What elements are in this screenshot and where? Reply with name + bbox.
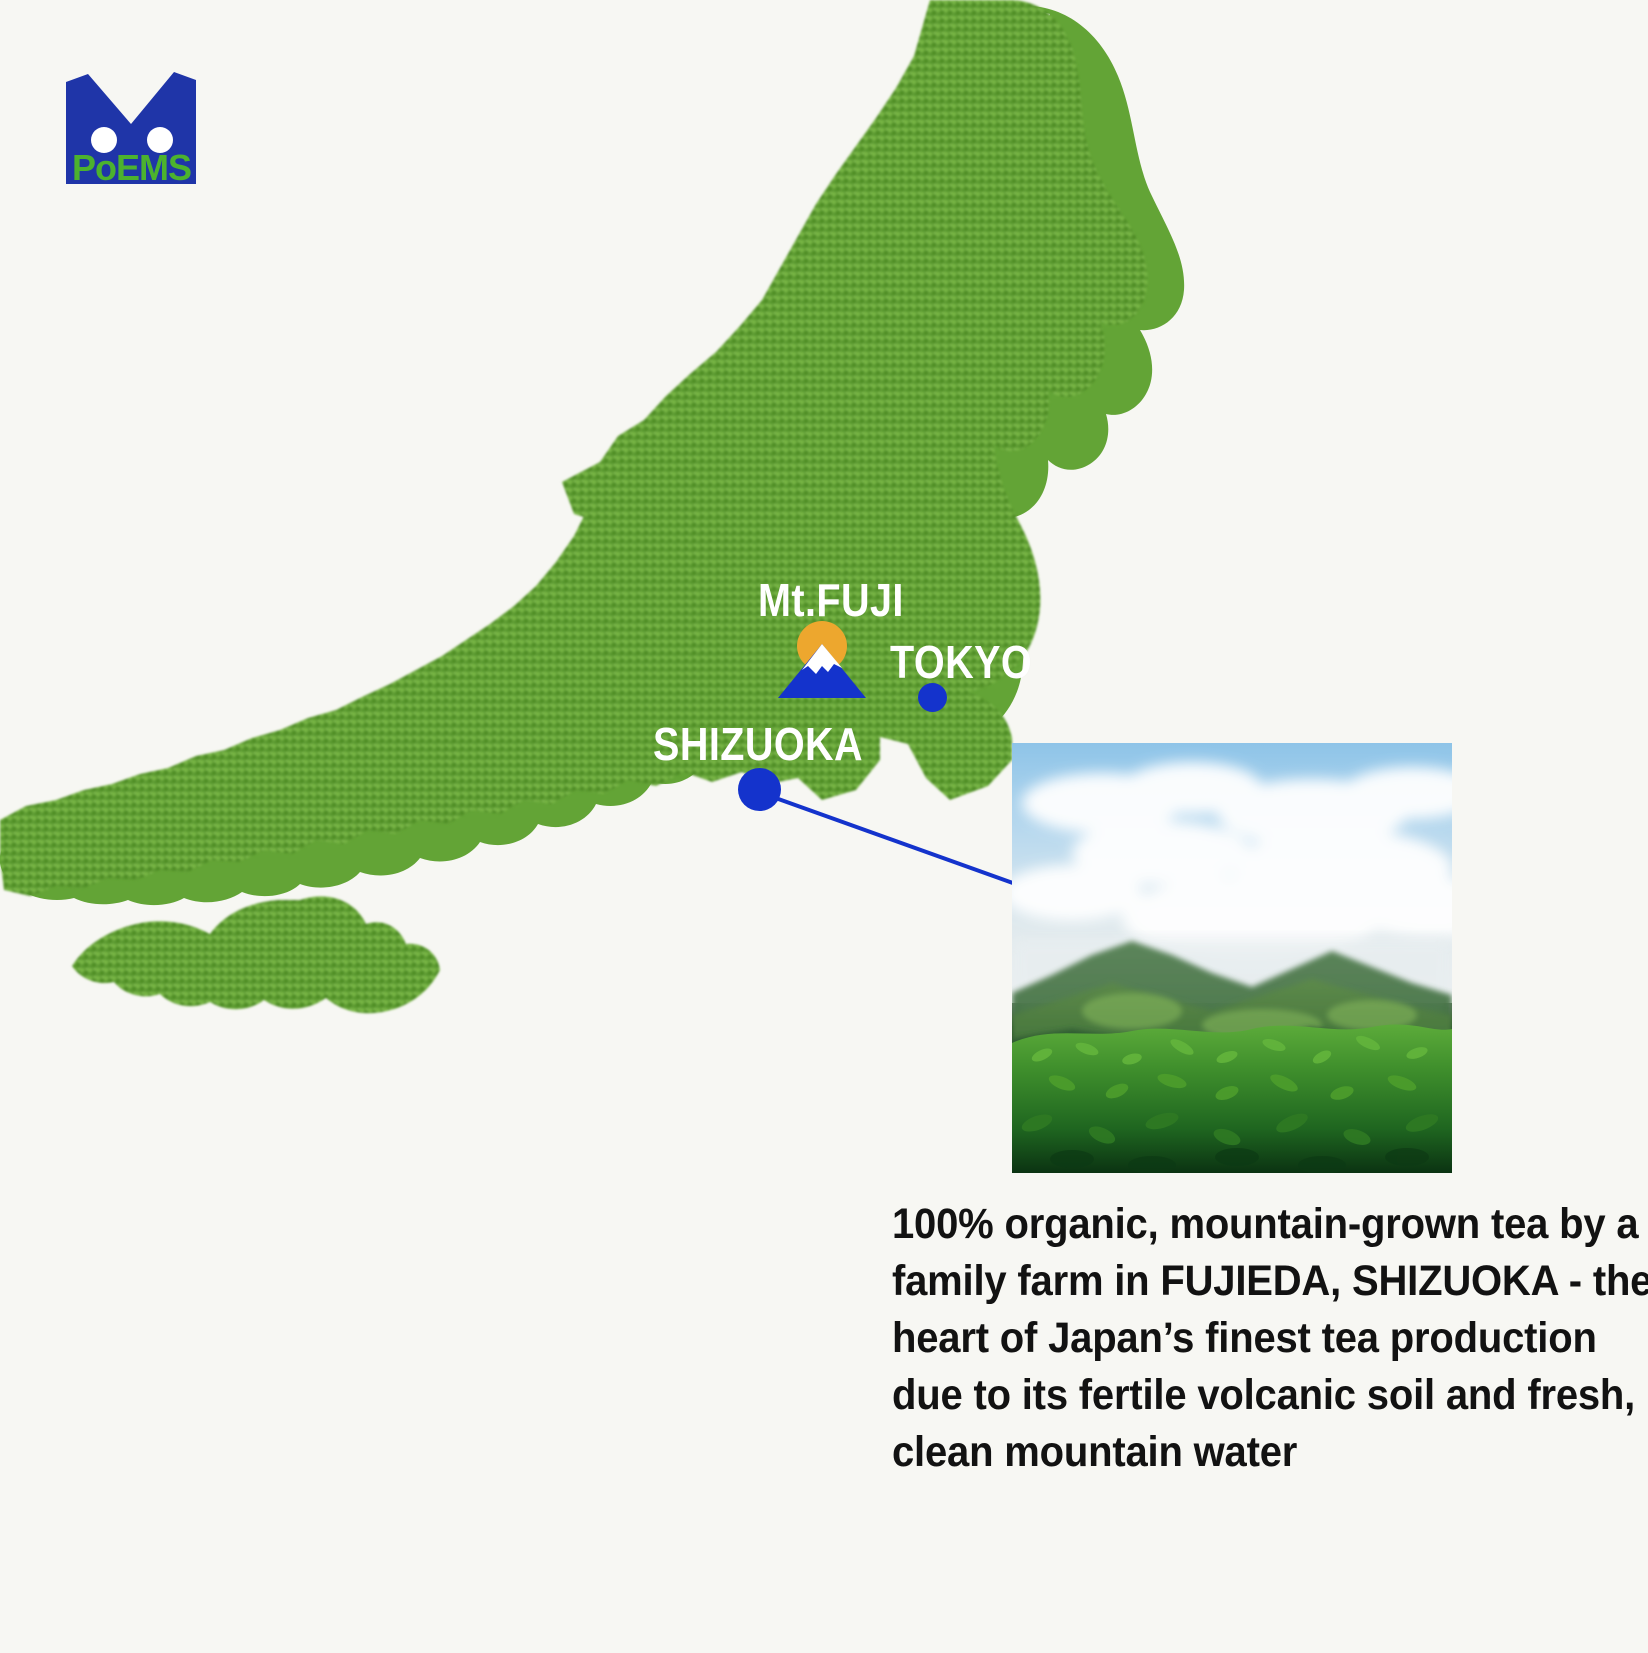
caption-line: heart of Japan’s finest tea production [892,1310,1487,1367]
caption-line: 100% organic, mountain-grown tea by a [892,1196,1487,1253]
caption-line: family farm in FUJIEDA, SHIZUOKA - the [892,1253,1487,1310]
poems-logo[interactable]: PoEMS [62,62,200,187]
caption-text: 100% organic, mountain-grown tea by a fa… [892,1196,1487,1481]
map-marker-tokyo[interactable] [918,683,947,712]
map-label-tokyo: TOKYO [890,635,1032,689]
poster-canvas: PoEMS Mt.FUJI TOKYO SHIZUOKA [0,0,1648,1648]
tea-plantation-photo [1012,743,1452,1173]
poems-wordmark: PoEMS [72,147,191,187]
map-marker-shizuoka[interactable] [738,768,781,811]
map-label-mt-fuji: Mt.FUJI [758,573,904,627]
caption-line: clean mountain water [892,1424,1487,1481]
poems-cat-logo-icon: PoEMS [62,62,200,187]
mount-fuji-icon [778,618,866,700]
caption-line: due to its fertile volcanic soil and fre… [892,1367,1487,1424]
map-label-shizuoka: SHIZUOKA [653,717,863,771]
